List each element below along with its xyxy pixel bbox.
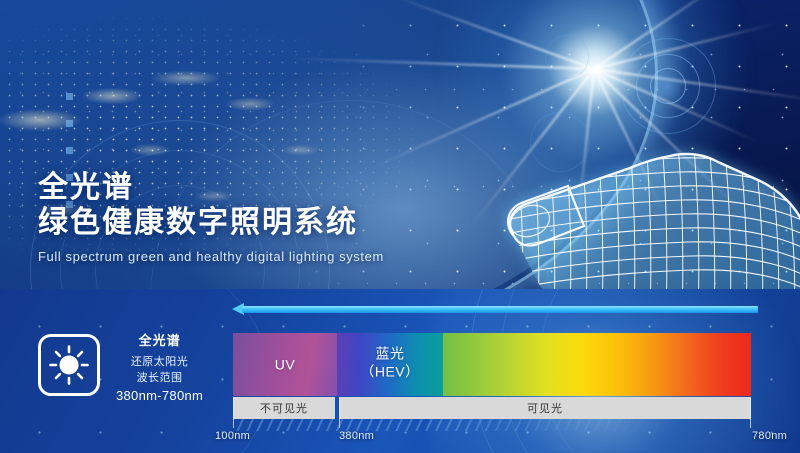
hero-title-line1: 全光谱	[38, 172, 384, 204]
hud-ring-icon	[650, 68, 686, 104]
hud-ring-icon	[545, 35, 589, 79]
hud-ring-icon	[530, 112, 590, 172]
hero-text-block: 全光谱 绿色健康数字照明系统 Full spectrum green and h…	[38, 172, 384, 264]
spectrum-label-hev: 蓝光 （HEV）	[337, 346, 443, 381]
sun-rays	[594, 68, 595, 69]
hero-title-line2: 绿色健康数字照明系统	[38, 204, 384, 242]
spectrum-segment-hev: 蓝光 （HEV）	[337, 333, 443, 396]
banner-stage: 全光谱 绿色健康数字照明系统 Full spectrum green and h…	[0, 0, 800, 453]
info-line-2: 波长范围	[116, 371, 203, 387]
visibility-bands: 不可见光 可见光	[233, 397, 751, 419]
spectrum-bar: UV 蓝光 （HEV）	[233, 333, 751, 396]
hero-section: 全光谱 绿色健康数字照明系统 Full spectrum green and h…	[0, 0, 800, 289]
sun-icon	[38, 334, 100, 396]
info-title: 全光谱	[116, 330, 203, 349]
axis-hatching	[233, 417, 751, 431]
info-wavelength-range: 380nm-780nm	[116, 387, 203, 405]
full-spectrum-info: 全光谱 还原太阳光 波长范围 380nm-780nm	[38, 330, 203, 405]
hero-subtitle: Full spectrum green and healthy digital …	[38, 249, 384, 264]
band-invisible-light: 不可见光	[233, 397, 335, 419]
info-line-1: 还原太阳光	[116, 355, 203, 371]
spectrum-segment-visible	[443, 333, 751, 396]
left-arrow-icon	[232, 305, 758, 314]
full-spectrum-text: 全光谱 还原太阳光 波长范围 380nm-780nm	[116, 330, 203, 405]
band-visible-light: 可见光	[339, 397, 751, 419]
spectrum-label-hev-line1: 蓝光	[337, 346, 443, 364]
spectrum-segment-uv: UV	[233, 333, 337, 396]
spectrum-label-hev-line2: （HEV）	[337, 363, 443, 381]
spectrum-label-uv: UV	[233, 356, 337, 374]
